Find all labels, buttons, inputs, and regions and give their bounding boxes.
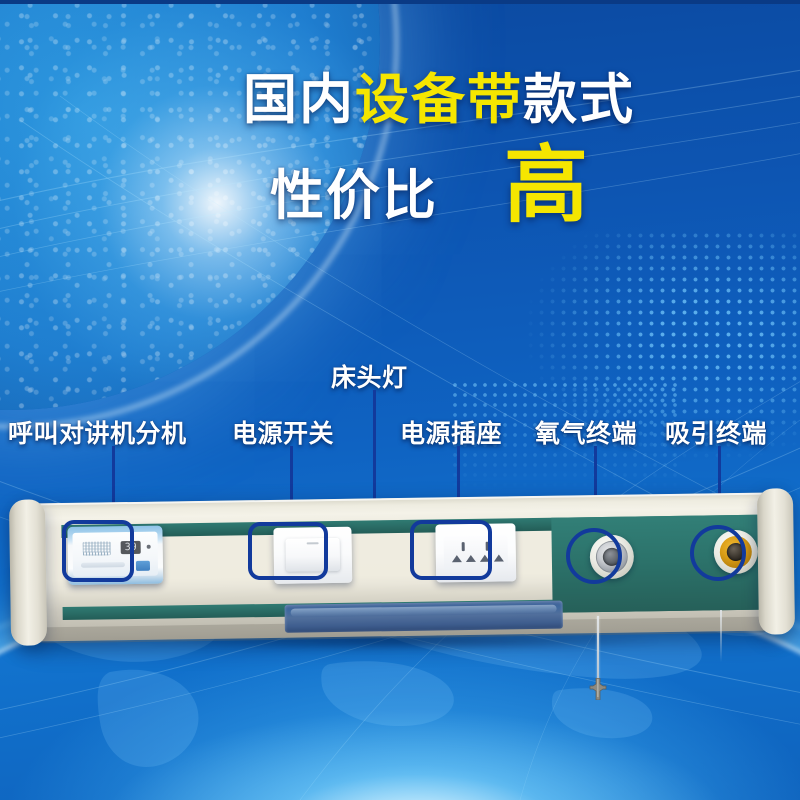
hanging-plug-icon xyxy=(589,678,607,700)
panel-end-cap-right xyxy=(757,488,795,635)
callout-label-power-switch: 电源开关 xyxy=(232,414,334,450)
hanging-cord xyxy=(597,616,599,684)
callout-ring-intercom xyxy=(62,520,134,582)
top-edge-bar xyxy=(0,0,800,4)
hanging-cord-secondary xyxy=(720,610,722,662)
socket-slot-4-icon xyxy=(494,554,504,561)
callout-ring-oxygen xyxy=(566,528,622,584)
callout-ring-power-socket xyxy=(410,520,492,580)
status-led-icon xyxy=(147,545,151,549)
diffuser-gloss xyxy=(291,605,557,617)
bed-head-panel: 39 xyxy=(21,492,783,641)
callout-ring-power-switch xyxy=(248,522,328,580)
panel-end-cap-left xyxy=(9,499,47,646)
intercom-call-button[interactable] xyxy=(136,561,150,571)
bed-light-diffuser xyxy=(285,601,563,633)
promo-banner: 国内设备带款式 性价比高 呼叫对讲机分机 电源开关 床头灯 电源插座 氧气终端 … xyxy=(0,0,800,800)
callout-ring-suction xyxy=(690,525,746,581)
callout-label-suction: 吸引终端 xyxy=(665,414,767,450)
callout-label-power-socket: 电源插座 xyxy=(400,414,502,450)
callout-label-bed-light: 床头灯 xyxy=(331,358,408,394)
callout-label-intercom: 呼叫对讲机分机 xyxy=(8,414,187,450)
callout-label-oxygen: 氧气终端 xyxy=(535,414,637,450)
